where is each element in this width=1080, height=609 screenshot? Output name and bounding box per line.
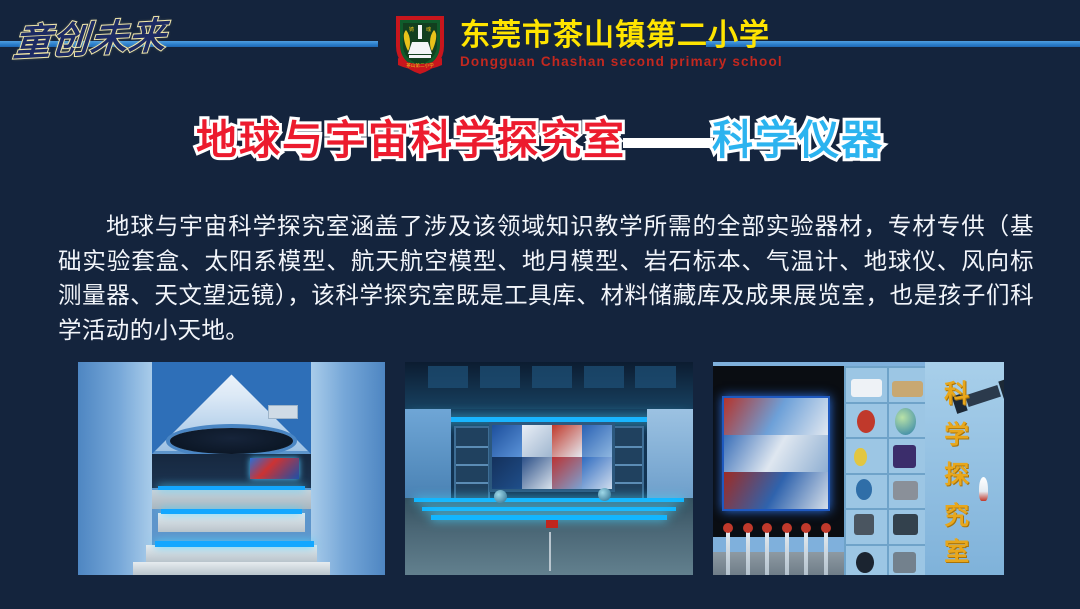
- school-name-block: 东莞市茶山镇第二小学 Dongguan Chashan second prima…: [460, 19, 783, 70]
- presentation-slide: 童创未来 铸: [0, 0, 1080, 609]
- photo-strip: 科 学 探 究 室: [78, 362, 1004, 575]
- svg-text:魂: 魂: [426, 26, 431, 33]
- photo-led-wall-hall: [405, 362, 693, 575]
- title-part-dash: ——: [626, 117, 712, 163]
- photo-classroom-entrance: [78, 362, 385, 575]
- school-identity: 铸 魂 茶山第二小学 东莞市茶山镇第二小学 Dongguan Chashan s…: [392, 5, 783, 83]
- photo-equipment-shelves: 科 学 探 究 室: [713, 362, 1004, 575]
- svg-text:铸: 铸: [409, 26, 414, 33]
- slide-header: 童创未来 铸: [0, 0, 1080, 88]
- wall-char-3: 探: [944, 462, 969, 488]
- wall-char-1: 科: [944, 381, 969, 407]
- school-name-en: Dongguan Chashan second primary school: [460, 53, 783, 70]
- rocket-model-icon: [979, 477, 988, 501]
- wall-char-4: 究: [944, 503, 969, 529]
- wall-char-5: 室: [944, 539, 969, 565]
- title-part-topic: 地球与宇宙科学探究室: [196, 117, 626, 163]
- school-crest-icon: 铸 魂 茶山第二小学: [392, 12, 448, 76]
- satellite-model-icon: [965, 385, 1001, 407]
- body-paragraph: 地球与宇宙科学探究室涵盖了涉及该领域知识教学所需的全部实验器材，专材专供（基础实…: [58, 210, 1034, 348]
- tong-chuang-wei-lai-logo: 童创未来: [11, 2, 167, 80]
- slide-title: 地球与宇宙科学探究室——科学仪器: [0, 114, 1080, 166]
- title-part-subtopic: 科学仪器: [712, 117, 884, 163]
- svg-text:茶山第二小学: 茶山第二小学: [406, 62, 434, 69]
- school-name-cn: 东莞市茶山镇第二小学: [460, 19, 783, 53]
- wall-char-2: 学: [944, 422, 969, 448]
